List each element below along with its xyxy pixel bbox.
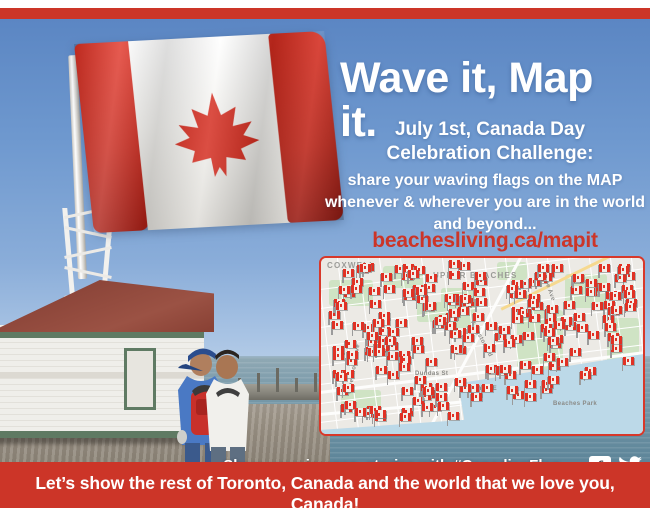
body-copy: share your waving flags on the MAP whene… [320, 170, 650, 236]
map-flag-marker[interactable] [448, 308, 461, 323]
map-flag-marker[interactable] [474, 271, 487, 286]
map-flag-marker[interactable] [522, 331, 535, 346]
map-flag-marker[interactable] [374, 409, 387, 424]
map-flag-marker[interactable] [447, 411, 460, 426]
map-flag-marker[interactable] [506, 385, 519, 400]
map-flag-marker[interactable] [587, 330, 600, 345]
map-flag-marker[interactable] [435, 382, 448, 397]
map-flag-marker[interactable] [519, 360, 532, 375]
map-flag-marker[interactable] [483, 343, 496, 358]
map-flag-marker[interactable] [331, 320, 344, 335]
map-flag-marker[interactable] [569, 347, 582, 362]
map-flag-marker[interactable] [422, 386, 435, 401]
subheadline-line-2: Celebration Challenge: [330, 142, 650, 166]
map-flag-marker[interactable] [398, 362, 411, 377]
map-flag-marker[interactable] [411, 336, 424, 351]
map-flag-marker[interactable] [368, 286, 381, 301]
map-flag-marker[interactable] [434, 316, 447, 331]
map-flag-marker[interactable] [604, 322, 617, 337]
map-flag-marker[interactable] [401, 386, 414, 401]
map-flag-marker[interactable] [610, 305, 623, 320]
map-flag-marker[interactable] [380, 272, 393, 287]
map-flag-marker[interactable] [346, 350, 359, 365]
map-flag-marker[interactable] [598, 282, 611, 297]
map-flag-marker[interactable] [585, 278, 598, 293]
subheadline: July 1st, Canada Day Celebration Challen… [330, 118, 650, 167]
map-flag-marker[interactable] [546, 304, 559, 319]
map-flag-marker[interactable] [524, 392, 537, 407]
map-flag-marker[interactable] [499, 364, 512, 379]
map-label: Beaches Park [553, 401, 597, 407]
subheadline-line-1: July 1st, Canada Day [330, 118, 650, 142]
map-flag-marker[interactable] [425, 357, 438, 372]
map-flag-marker[interactable] [462, 333, 475, 348]
map-flag-marker[interactable] [537, 263, 550, 278]
map-flag-marker[interactable] [572, 273, 585, 288]
map-flag-marker[interactable] [622, 356, 635, 371]
map-flag-marker[interactable] [335, 372, 348, 387]
map-flag-marker[interactable] [472, 312, 485, 327]
map-flag-marker[interactable] [335, 301, 348, 316]
map-inset[interactable]: COXWELLUPPER BEACHESGreenwood AveKingsto… [319, 256, 645, 436]
map-flag-marker[interactable] [454, 377, 467, 392]
map-flag-marker[interactable] [579, 370, 592, 385]
map-flag-marker[interactable] [543, 352, 556, 367]
map-flag-marker[interactable] [610, 335, 623, 350]
map-flag-marker[interactable] [375, 365, 388, 380]
map-flag-marker[interactable] [624, 302, 637, 317]
poster-canvas: Share your images, stories with #Canadia… [0, 0, 650, 523]
bottom-bar-text: Let’s show the rest of Toronto, Canada a… [0, 473, 650, 515]
map-flag-marker[interactable] [407, 269, 420, 284]
map-flag-marker[interactable] [415, 286, 428, 301]
map-flag-marker[interactable] [359, 263, 372, 278]
map-flag-marker[interactable] [369, 299, 382, 314]
map-flag-marker[interactable] [514, 289, 527, 304]
map-flag-marker[interactable] [573, 312, 586, 327]
map-flag-marker[interactable] [399, 412, 412, 427]
map-flag-marker[interactable] [598, 263, 611, 278]
map-flag-marker[interactable] [424, 301, 437, 316]
map-flag-marker[interactable] [470, 392, 483, 407]
map-flag-marker[interactable] [384, 336, 397, 351]
map-flag-marker[interactable] [556, 357, 569, 372]
map-flag-marker[interactable] [591, 301, 604, 316]
bottom-red-bar: Let’s show the rest of Toronto, Canada a… [0, 462, 650, 508]
map-flag-marker[interactable] [511, 314, 524, 329]
map-flag-marker[interactable] [373, 347, 386, 362]
map-flag-marker[interactable] [421, 402, 434, 417]
map-flag-marker[interactable] [547, 375, 560, 390]
map-flag-marker[interactable] [402, 288, 415, 303]
map-flag-marker[interactable] [543, 327, 556, 342]
map-flag-marker[interactable] [350, 284, 363, 299]
body-line-2: whenever & wherever you are in the world [320, 192, 650, 214]
map-flag-marker[interactable] [527, 298, 540, 313]
map-flag-marker[interactable] [366, 331, 379, 346]
map-flag-marker[interactable] [352, 321, 365, 336]
body-line-1: share your waving flags on the MAP [320, 170, 650, 192]
map-flag-marker[interactable] [354, 407, 367, 422]
map-flag-marker[interactable] [503, 338, 516, 353]
map-flag-marker[interactable] [617, 265, 630, 280]
top-red-rule [0, 8, 650, 19]
map-flag-marker[interactable] [475, 297, 488, 312]
map-flag-marker[interactable] [342, 268, 355, 283]
map-flag-marker[interactable] [332, 351, 345, 366]
website-url[interactable]: beachesliving.ca/mapit [320, 229, 650, 253]
map-flag-marker[interactable] [448, 270, 461, 285]
